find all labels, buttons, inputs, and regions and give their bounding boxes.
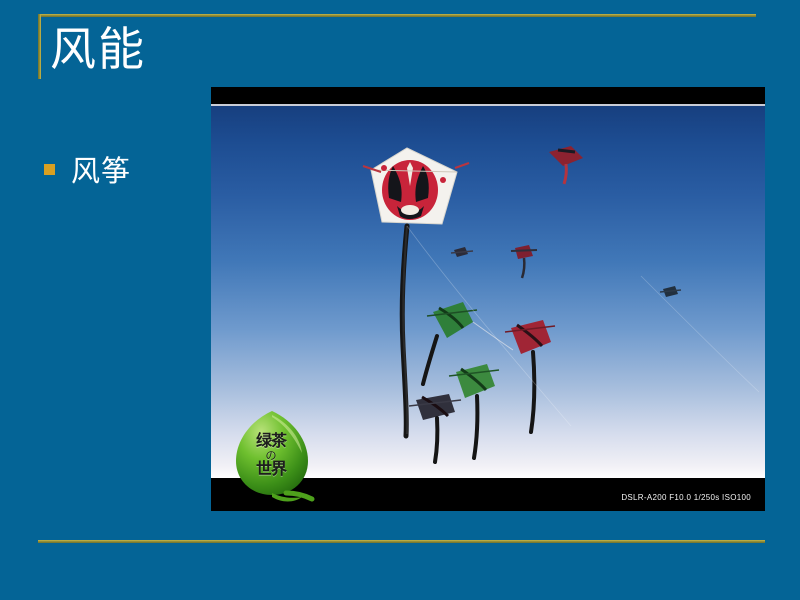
photo-letterbox-top (211, 87, 765, 104)
watermark-line-3: 世界 (236, 461, 306, 478)
small-kite-upper-right (549, 146, 583, 184)
opera-mask-kite (363, 148, 469, 224)
list-item: 风筝 (44, 148, 194, 190)
left-gold-rule (38, 14, 41, 79)
dark-kite-lower-left (409, 394, 461, 462)
bullet-list: 风筝 (44, 148, 194, 200)
green-leaf-watermark: 绿茶 の 世界 (222, 407, 322, 503)
top-gold-rule (38, 14, 756, 17)
square-bullet-icon (44, 164, 55, 175)
kites-in-sky-photo: 绿茶 の 世界 DSLR-A200 F10.0 1/250s ISO100 (211, 87, 765, 511)
watermark-line-1: 绿茶 (236, 433, 306, 450)
bottom-gold-rule (38, 540, 765, 543)
red-kite (505, 320, 555, 432)
kite-string (641, 276, 759, 392)
photo-hairline (211, 104, 765, 106)
far-kite-right (660, 286, 681, 297)
small-kite-center-right (511, 245, 537, 278)
tiny-kite-center (451, 247, 473, 257)
presentation-slide: 风能 风筝 (0, 0, 800, 600)
slide-title: 风能 (50, 24, 146, 76)
exif-caption: DSLR-A200 F10.0 1/250s ISO100 (621, 493, 751, 502)
green-kite-lower (449, 364, 499, 458)
watermark-text: 绿茶 の 世界 (236, 433, 306, 478)
bullet-label: 风筝 (71, 148, 131, 190)
kite-string (407, 226, 571, 426)
